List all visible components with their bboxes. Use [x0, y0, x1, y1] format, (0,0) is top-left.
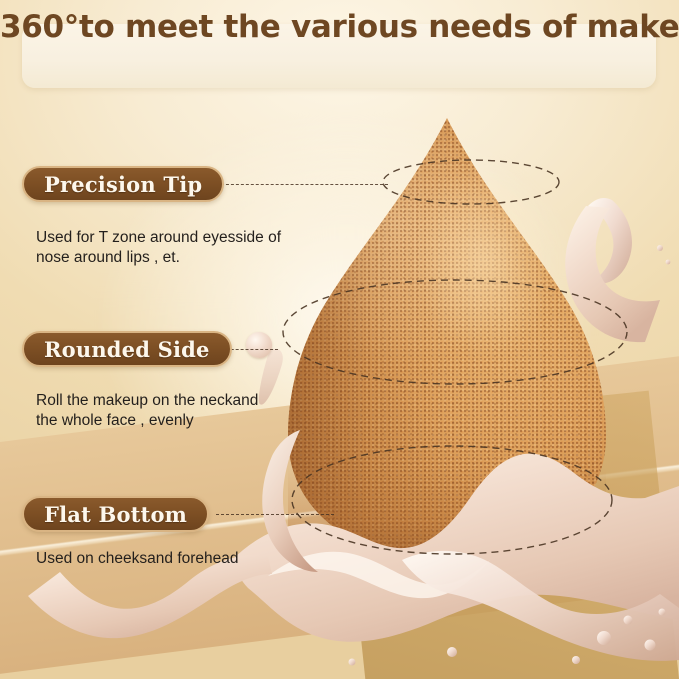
- callout-description-flat-bottom: Used on cheeksand forehead: [36, 549, 346, 569]
- callout-badge-precision-tip[interactable]: Precision Tip: [22, 166, 224, 202]
- product-infographic: 360°to meet the various needs of makeup …: [0, 0, 679, 679]
- callout-badge-rounded-side[interactable]: Rounded Side: [22, 331, 232, 367]
- callout-label: Precision Tip: [44, 172, 202, 197]
- sponge-flat-bottom: [288, 468, 606, 560]
- callout-label: Rounded Side: [44, 337, 210, 362]
- leader-line-precision-tip: [216, 184, 388, 185]
- cream-droplet: [246, 332, 272, 358]
- callout-description-precision-tip: Used for T zone around eyesside of nose …: [36, 228, 346, 268]
- sponge-highlight: [415, 162, 555, 356]
- page-title: 360°to meet the various needs of makeup: [0, 9, 679, 45]
- callout-label: Flat Bottom: [44, 502, 187, 527]
- callout-badge-flat-bottom[interactable]: Flat Bottom: [22, 496, 209, 532]
- leader-line-flat-bottom: [216, 514, 334, 515]
- callout-description-rounded-side: Roll the makeup on the neckand the whole…: [36, 391, 346, 431]
